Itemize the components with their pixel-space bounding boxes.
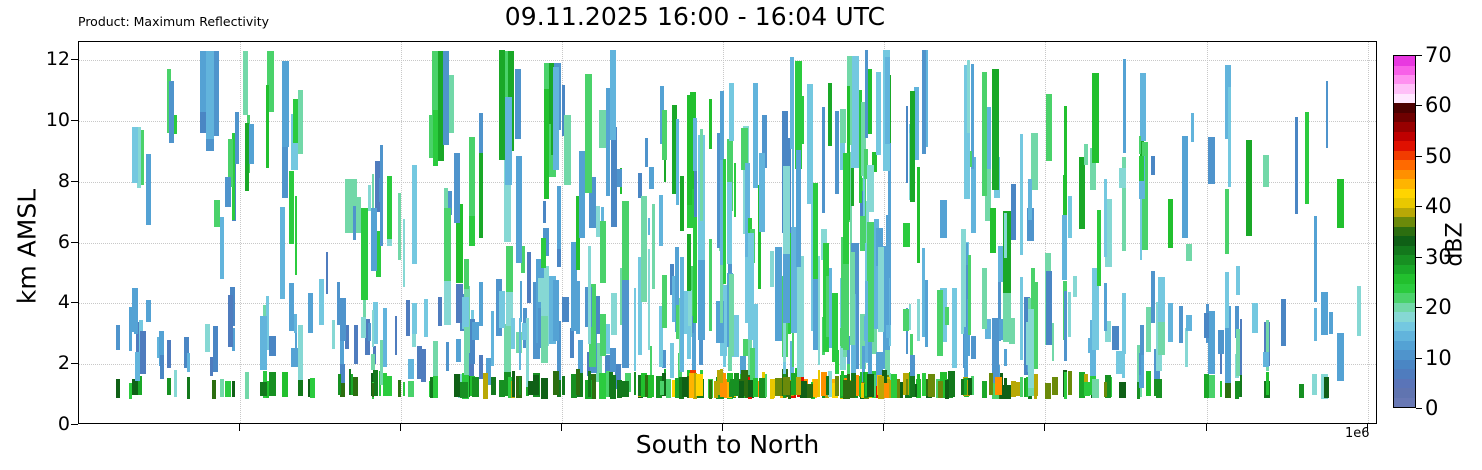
reflectivity-cell bbox=[826, 376, 829, 395]
colorbar-band bbox=[1394, 179, 1415, 189]
reflectivity-cell bbox=[491, 377, 496, 395]
reflectivity-cell bbox=[1139, 156, 1144, 180]
reflectivity-cell bbox=[753, 83, 757, 188]
reflectivity-cell bbox=[520, 281, 523, 322]
reflectivity-cell bbox=[361, 208, 367, 300]
reflectivity-cell bbox=[964, 133, 969, 199]
reflectivity-cell bbox=[826, 276, 829, 337]
reflectivity-cell bbox=[1146, 307, 1151, 352]
reflectivity-cell bbox=[680, 176, 684, 231]
reflectivity-cell bbox=[1104, 179, 1107, 257]
reflectivity-cell bbox=[533, 375, 540, 395]
reflectivity-cell bbox=[662, 275, 668, 328]
reflectivity-cell bbox=[516, 156, 522, 263]
reflectivity-cell bbox=[1119, 168, 1126, 188]
reflectivity-cell bbox=[1004, 213, 1007, 258]
reflectivity-cell bbox=[438, 297, 443, 326]
reflectivity-cell bbox=[666, 379, 671, 397]
reflectivity-cell bbox=[818, 370, 820, 397]
reflectivity-cell bbox=[1097, 210, 1101, 286]
reflectivity-cell bbox=[982, 381, 987, 398]
colorbar-band bbox=[1394, 103, 1415, 113]
reflectivity-cell bbox=[617, 380, 622, 397]
colorbar-band bbox=[1394, 150, 1415, 160]
reflectivity-cell bbox=[709, 380, 711, 399]
reflectivity-cell bbox=[206, 139, 214, 151]
reflectivity-cell bbox=[225, 177, 231, 207]
reflectivity-cell bbox=[460, 382, 467, 399]
y-tick-mark bbox=[71, 363, 78, 364]
reflectivity-cell bbox=[617, 169, 622, 187]
reflectivity-cell bbox=[383, 373, 386, 396]
reflectivity-cell bbox=[1182, 136, 1189, 237]
reflectivity-cell bbox=[1168, 303, 1173, 342]
reflectivity-cell bbox=[783, 377, 790, 394]
reflectivity-cell bbox=[129, 307, 132, 352]
reflectivity-cell bbox=[1020, 377, 1023, 397]
reflectivity-cell bbox=[600, 221, 607, 284]
reflectivity-cell bbox=[945, 380, 949, 399]
reflectivity-cell bbox=[544, 89, 549, 200]
reflectivity-cell bbox=[353, 377, 358, 396]
reflectivity-cell bbox=[245, 123, 249, 191]
reflectivity-cell bbox=[371, 208, 378, 272]
reflectivity-cell bbox=[998, 246, 1003, 282]
reflectivity-cell bbox=[868, 69, 872, 134]
reflectivity-cell bbox=[1092, 73, 1099, 163]
reflectivity-cell bbox=[835, 350, 839, 373]
colorbar-band bbox=[1394, 160, 1415, 170]
reflectivity-cell bbox=[444, 208, 450, 281]
reflectivity-cell bbox=[464, 259, 469, 289]
reflectivity-cell bbox=[878, 376, 884, 399]
reflectivity-cell bbox=[599, 110, 605, 149]
reflectivity-cell bbox=[1112, 326, 1119, 350]
reflectivity-cell bbox=[1186, 315, 1192, 331]
reflectivity-cell bbox=[1116, 351, 1123, 374]
reflectivity-cell bbox=[576, 369, 580, 395]
y-tick-mark bbox=[71, 181, 78, 182]
reflectivity-cell bbox=[1185, 328, 1188, 366]
colorbar-band bbox=[1394, 330, 1415, 340]
reflectivity-cell bbox=[380, 145, 383, 247]
reflectivity-cell bbox=[353, 206, 356, 240]
reflectivity-cell bbox=[1045, 383, 1052, 399]
gridline-vertical bbox=[240, 42, 241, 423]
reflectivity-cell bbox=[395, 316, 398, 356]
reflectivity-cell bbox=[822, 107, 825, 213]
reflectivity-cell bbox=[797, 256, 804, 378]
reflectivity-cell bbox=[528, 381, 533, 395]
reflectivity-cell bbox=[454, 374, 460, 398]
reflectivity-cell bbox=[174, 115, 177, 135]
reflectivity-cell bbox=[269, 336, 275, 357]
reflectivity-cell bbox=[1266, 372, 1269, 395]
reflectivity-cell bbox=[903, 309, 908, 331]
reflectivity-cell bbox=[739, 381, 744, 398]
reflectivity-cell bbox=[368, 323, 371, 341]
reflectivity-cell bbox=[680, 257, 684, 372]
colorbar-tick-label: 0 bbox=[1425, 396, 1438, 420]
reflectivity-cell bbox=[1052, 377, 1058, 395]
reflectivity-cell bbox=[1004, 349, 1007, 366]
reflectivity-cell bbox=[968, 255, 971, 336]
reflectivity-cell bbox=[714, 381, 717, 399]
reflectivity-cell bbox=[1225, 328, 1231, 383]
reflectivity-cell bbox=[167, 340, 172, 368]
reflectivity-cell bbox=[1225, 272, 1229, 335]
reflectivity-cell bbox=[652, 204, 655, 289]
plot-area bbox=[78, 41, 1377, 424]
reflectivity-cell bbox=[499, 380, 506, 398]
reflectivity-cell bbox=[813, 379, 817, 397]
reflectivity-cell bbox=[383, 308, 386, 367]
reflectivity-cell bbox=[610, 348, 616, 373]
reflectivity-cell bbox=[1052, 323, 1054, 361]
reflectivity-cell bbox=[689, 373, 694, 398]
reflectivity-cell bbox=[610, 50, 616, 141]
reflectivity-cell bbox=[232, 381, 235, 397]
reflectivity-cell bbox=[200, 112, 206, 133]
reflectivity-cell bbox=[398, 380, 401, 397]
reflectivity-cell bbox=[1357, 286, 1361, 336]
reflectivity-cell bbox=[1204, 313, 1210, 338]
reflectivity-cell bbox=[638, 173, 643, 197]
reflectivity-cell bbox=[541, 316, 547, 363]
reflectivity-cell bbox=[922, 373, 926, 396]
reflectivity-cell bbox=[917, 299, 919, 342]
reflectivity-cell bbox=[759, 378, 765, 398]
reflectivity-cell bbox=[129, 383, 132, 399]
colorbar-tick-mark bbox=[1416, 156, 1422, 157]
reflectivity-cell bbox=[372, 310, 374, 347]
reflectivity-cell bbox=[922, 50, 926, 154]
reflectivity-cell bbox=[282, 372, 289, 397]
reflectivity-cell bbox=[971, 336, 976, 359]
reflectivity-cell bbox=[851, 56, 858, 168]
reflectivity-cell bbox=[1068, 196, 1072, 239]
reflectivity-cell bbox=[424, 299, 428, 337]
colorbar-label: dBZ bbox=[1443, 185, 1468, 305]
reflectivity-cell bbox=[648, 375, 654, 397]
colorbar-band bbox=[1394, 217, 1415, 227]
reflectivity-cell bbox=[1068, 371, 1072, 395]
reflectivity-cell bbox=[940, 200, 947, 238]
reflectivity-cell bbox=[538, 278, 545, 302]
reflectivity-cell bbox=[504, 324, 511, 372]
reflectivity-cell bbox=[1151, 156, 1155, 175]
x-axis-offset-text: 1e6 bbox=[1345, 426, 1370, 441]
reflectivity-cell bbox=[1281, 299, 1285, 347]
reflectivity-cell bbox=[729, 83, 733, 142]
reflectivity-cell bbox=[361, 317, 367, 337]
reflectivity-cell bbox=[412, 165, 417, 263]
colorbar-band bbox=[1394, 169, 1415, 179]
reflectivity-cell bbox=[717, 370, 720, 395]
reflectivity-cell bbox=[676, 305, 678, 339]
reflectivity-cell bbox=[1295, 117, 1299, 214]
reflectivity-cell bbox=[952, 288, 957, 368]
reflectivity-cell bbox=[408, 381, 414, 396]
reflectivity-cell bbox=[650, 346, 652, 379]
reflectivity-cell bbox=[406, 300, 409, 335]
reflectivity-cell bbox=[433, 341, 437, 377]
reflectivity-cell bbox=[938, 381, 943, 398]
reflectivity-cell bbox=[835, 376, 839, 396]
reflectivity-cell bbox=[1186, 244, 1192, 261]
colorbar-band bbox=[1394, 141, 1415, 151]
colorbar-band bbox=[1394, 311, 1415, 321]
reflectivity-cell bbox=[1062, 215, 1068, 280]
reflectivity-cell bbox=[506, 246, 513, 291]
reflectivity-cell bbox=[1236, 266, 1239, 294]
colorbar-tick-mark bbox=[1416, 105, 1422, 106]
reflectivity-cell bbox=[220, 379, 224, 397]
reflectivity-cell bbox=[1020, 277, 1023, 360]
reflectivity-cell bbox=[1046, 94, 1051, 161]
reflectivity-cell bbox=[371, 354, 375, 370]
reflectivity-cell bbox=[1028, 179, 1033, 219]
colorbar-tick-mark bbox=[1416, 358, 1422, 359]
reflectivity-cell bbox=[387, 376, 391, 396]
reflectivity-cell bbox=[421, 349, 426, 382]
reflectivity-cell bbox=[1028, 309, 1034, 388]
y-tick-mark bbox=[71, 120, 78, 121]
reflectivity-cell bbox=[1329, 312, 1333, 334]
reflectivity-cell bbox=[243, 51, 248, 115]
reflectivity-cell bbox=[200, 51, 206, 112]
reflectivity-cell bbox=[687, 95, 692, 205]
reflectivity-cell bbox=[116, 379, 119, 398]
reflectivity-cell bbox=[543, 201, 546, 223]
reflectivity-cell bbox=[1240, 373, 1242, 397]
reflectivity-cell bbox=[1312, 374, 1317, 395]
colorbar-band bbox=[1394, 84, 1415, 94]
colorbar-band bbox=[1394, 122, 1415, 132]
colorbar-tick-mark bbox=[1416, 307, 1422, 308]
reflectivity-cell bbox=[491, 311, 494, 366]
reflectivity-cell bbox=[729, 382, 733, 397]
reflectivity-cell bbox=[553, 280, 559, 341]
reflectivity-cell bbox=[1218, 330, 1223, 354]
reflectivity-cell bbox=[1220, 381, 1222, 397]
reflectivity-cell bbox=[146, 154, 151, 225]
reflectivity-cell bbox=[372, 383, 375, 397]
reflectivity-cell bbox=[696, 374, 703, 396]
reflectivity-cell bbox=[585, 74, 591, 193]
reflectivity-cell bbox=[917, 167, 919, 262]
reflectivity-cell bbox=[1064, 372, 1068, 399]
reflectivity-cell bbox=[693, 118, 697, 171]
reflectivity-cell bbox=[140, 331, 146, 373]
colorbar-tick-label: 60 bbox=[1425, 93, 1452, 117]
reflectivity-cell bbox=[167, 378, 172, 395]
reflectivity-cell bbox=[141, 130, 144, 185]
reflectivity-cell bbox=[449, 75, 454, 133]
reflectivity-cell bbox=[968, 378, 972, 396]
reflectivity-cell bbox=[553, 371, 559, 395]
reflectivity-cell bbox=[717, 133, 720, 248]
reflectivity-cell bbox=[228, 295, 234, 347]
reflectivity-cell bbox=[187, 353, 190, 371]
reflectivity-cell bbox=[511, 318, 514, 349]
reflectivity-cell bbox=[579, 151, 585, 238]
reflectivity-cell bbox=[249, 124, 254, 164]
reflectivity-cell bbox=[512, 371, 515, 397]
reflectivity-cell bbox=[220, 217, 224, 279]
reflectivity-cell bbox=[519, 318, 522, 370]
y-tick-label: 12 bbox=[46, 48, 70, 70]
reflectivity-cell bbox=[917, 374, 919, 397]
reflectivity-cell bbox=[1208, 137, 1215, 185]
y-tick-mark bbox=[71, 242, 78, 243]
reflectivity-cell bbox=[282, 61, 289, 147]
colorbar-band bbox=[1394, 74, 1415, 84]
reflectivity-cell bbox=[682, 377, 688, 398]
reflectivity-cell bbox=[1228, 87, 1231, 187]
reflectivity-cell bbox=[1179, 306, 1183, 343]
reflectivity-cell bbox=[727, 182, 732, 264]
reflectivity-cell bbox=[456, 339, 461, 362]
reflectivity-cell bbox=[753, 378, 757, 397]
reflectivity-cell bbox=[813, 183, 817, 279]
reflectivity-cell bbox=[408, 359, 414, 379]
gridline-vertical bbox=[1368, 42, 1369, 423]
reflectivity-cell bbox=[928, 374, 935, 398]
reflectivity-cell bbox=[1314, 216, 1317, 302]
reflectivity-cell bbox=[659, 195, 663, 246]
reflectivity-cell bbox=[1046, 271, 1051, 345]
reflectivity-cell bbox=[723, 344, 726, 367]
reflectivity-cell bbox=[748, 233, 755, 340]
reflectivity-cell bbox=[1011, 184, 1016, 240]
reflectivity-cell bbox=[693, 217, 697, 323]
reflectivity-cell bbox=[116, 325, 119, 350]
reflectivity-cell bbox=[260, 382, 266, 396]
reflectivity-cell bbox=[792, 131, 794, 231]
colorbar-tick-label: 10 bbox=[1425, 346, 1452, 370]
reflectivity-cell bbox=[1252, 303, 1258, 334]
reflectivity-cell bbox=[723, 159, 726, 284]
reflectivity-cell bbox=[1123, 59, 1126, 154]
reflectivity-cell bbox=[562, 376, 565, 395]
reflectivity-cell bbox=[796, 150, 801, 266]
reflectivity-cell bbox=[289, 283, 295, 332]
reflectivity-cell bbox=[649, 167, 654, 190]
reflectivity-cell bbox=[354, 325, 358, 365]
reflectivity-cell bbox=[835, 111, 839, 194]
reflectivity-cell bbox=[992, 69, 999, 189]
reflectivity-cell bbox=[1123, 298, 1126, 340]
reflectivity-cell bbox=[1156, 379, 1162, 398]
reflectivity-cell bbox=[828, 83, 833, 146]
reflectivity-cell bbox=[412, 303, 417, 334]
reflectivity-cell bbox=[1068, 292, 1072, 336]
reflectivity-cell bbox=[132, 127, 139, 182]
reflectivity-cell bbox=[770, 251, 775, 287]
reflectivity-cell bbox=[570, 328, 574, 358]
reflectivity-cell bbox=[515, 69, 520, 139]
reflectivity-cell bbox=[867, 374, 874, 397]
reflectivity-cell bbox=[132, 379, 139, 395]
colorbar-band bbox=[1394, 264, 1415, 274]
reflectivity-cell bbox=[720, 91, 724, 160]
y-axis-label: km AMSL bbox=[13, 132, 42, 362]
reflectivity-cell bbox=[541, 378, 547, 398]
reflectivity-cell bbox=[599, 373, 605, 399]
reflectivity-cell bbox=[759, 153, 765, 232]
reflectivity-cell bbox=[310, 378, 315, 398]
reflectivity-cell bbox=[522, 323, 527, 340]
colorbar-band bbox=[1394, 236, 1415, 246]
y-tick-label: 2 bbox=[58, 352, 70, 374]
reflectivity-cell bbox=[1139, 353, 1141, 375]
reflectivity-cell bbox=[687, 234, 691, 291]
reflectivity-cell bbox=[349, 369, 351, 395]
reflectivity-cell bbox=[187, 377, 190, 399]
reflectivity-cell bbox=[1064, 106, 1068, 215]
reflectivity-cell bbox=[1084, 144, 1088, 166]
colorbar-tick-label: 50 bbox=[1425, 144, 1452, 168]
reflectivity-cell bbox=[1240, 319, 1242, 375]
reflectivity-cell bbox=[910, 355, 916, 376]
y-tick-label: 4 bbox=[58, 291, 70, 313]
reflectivity-cell bbox=[1246, 140, 1252, 236]
y-tick-mark bbox=[71, 302, 78, 303]
reflectivity-cell bbox=[770, 385, 775, 399]
reflectivity-cell bbox=[326, 252, 329, 295]
colorbar-band bbox=[1394, 359, 1415, 369]
reflectivity-cell bbox=[294, 314, 297, 333]
reflectivity-cell bbox=[645, 375, 648, 397]
colorbar-band bbox=[1394, 245, 1415, 255]
reflectivity-cell bbox=[308, 293, 312, 333]
reflectivity-cell bbox=[910, 376, 916, 398]
colorbar-band bbox=[1394, 226, 1415, 236]
y-tick-label: 10 bbox=[46, 109, 70, 131]
y-tick-label: 6 bbox=[58, 231, 70, 253]
reflectivity-cell bbox=[1263, 352, 1269, 368]
reflectivity-cell bbox=[622, 269, 629, 368]
reflectivity-cell bbox=[992, 318, 999, 382]
colorbar-tick-mark bbox=[1416, 408, 1422, 409]
reflectivity-cell bbox=[1321, 292, 1328, 335]
reflectivity-cell bbox=[796, 377, 801, 395]
reflectivity-cell bbox=[576, 281, 580, 334]
reflectivity-cell bbox=[885, 57, 890, 144]
reflectivity-cell bbox=[818, 256, 820, 365]
reflectivity-cell bbox=[269, 372, 275, 396]
reflectivity-cell bbox=[734, 163, 736, 217]
reflectivity-cell bbox=[611, 293, 617, 335]
reflectivity-cell bbox=[900, 382, 903, 399]
colorbar-band bbox=[1394, 198, 1415, 208]
reflectivity-cell bbox=[289, 171, 295, 244]
x-axis-label: South to North bbox=[78, 430, 1377, 459]
reflectivity-cell bbox=[982, 268, 987, 329]
reflectivity-cell bbox=[945, 307, 949, 325]
reflectivity-cell bbox=[1079, 157, 1085, 229]
colorbar-band bbox=[1394, 274, 1415, 284]
reflectivity-cell bbox=[266, 85, 269, 168]
reflectivity-cell bbox=[1119, 382, 1126, 398]
y-tick-mark bbox=[71, 59, 78, 60]
colorbar-band bbox=[1394, 292, 1415, 302]
colorbar-band bbox=[1394, 207, 1415, 217]
reflectivity-cell bbox=[433, 375, 437, 398]
reflectivity-cell bbox=[982, 72, 987, 197]
reflectivity-cell bbox=[340, 298, 346, 341]
